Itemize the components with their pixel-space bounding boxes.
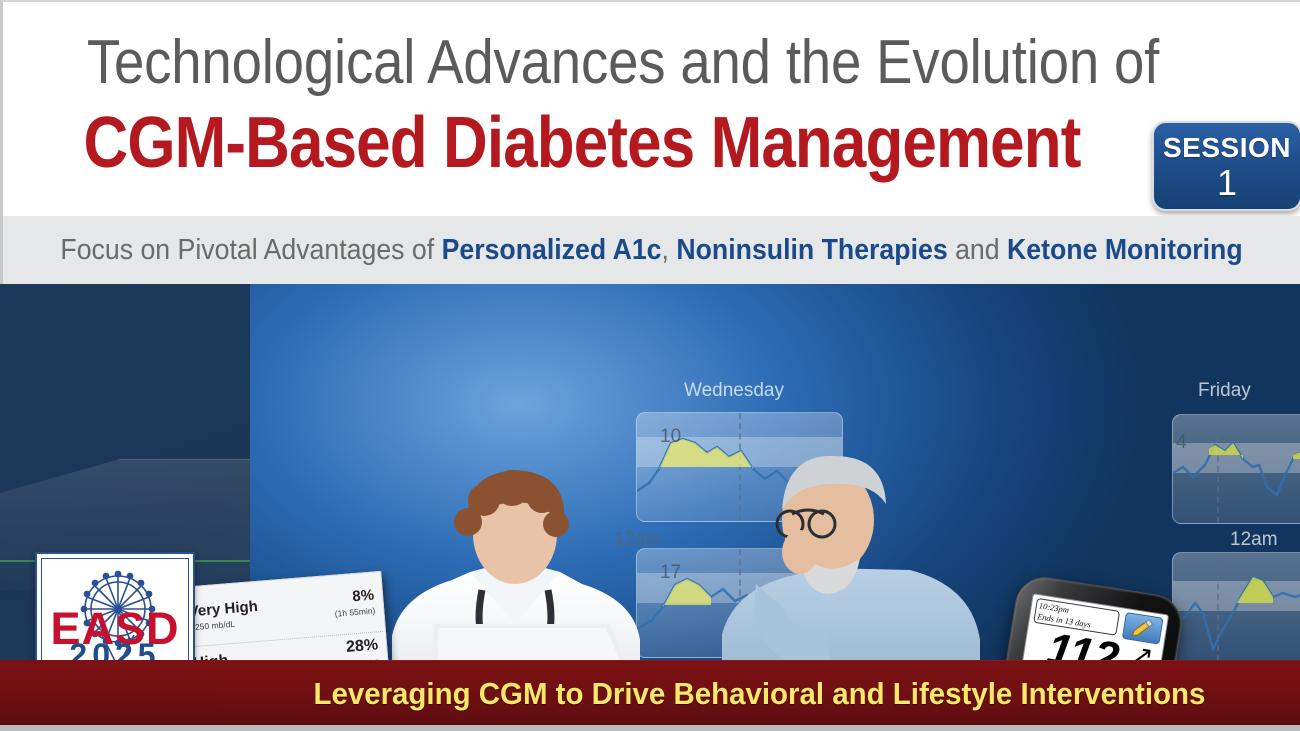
subtitle-prefix: Focus on Pivotal Advantages of bbox=[60, 234, 441, 266]
tir-row-percent: 28% bbox=[345, 636, 378, 657]
subtitle-sep-1: , bbox=[662, 234, 677, 266]
footer-text: Leveraging CGM to Drive Behavioral and L… bbox=[314, 676, 1206, 712]
title-band: Technological Advances and the Evolution… bbox=[0, 0, 1300, 216]
subtitle-highlight-a1c: Personalized A1c bbox=[442, 234, 662, 266]
session-badge-label: SESSION bbox=[1154, 132, 1300, 164]
subtitle-text: Focus on Pivotal Advantages of Personali… bbox=[60, 234, 1242, 267]
session-badge: SESSION 1 bbox=[1152, 121, 1300, 211]
subtitle-sep-2: and bbox=[948, 234, 1007, 266]
footer-bar-left bbox=[0, 660, 219, 725]
tir-row-name: Very High bbox=[188, 598, 258, 620]
subtitle-highlight-noninsulin: Noninsulin Therapies bbox=[676, 234, 947, 266]
session-badge-number: 1 bbox=[1154, 164, 1300, 202]
page-title-line2: CGM-Based Diabetes Management bbox=[84, 102, 1073, 184]
subtitle-highlight-ketone: Ketone Monitoring bbox=[1007, 234, 1243, 266]
poster-banner: Technological Advances and the Evolution… bbox=[0, 0, 1300, 731]
page-title-line1: Technological Advances and the Evolution… bbox=[77, 28, 1168, 98]
tir-row-time: (1h 55min) bbox=[334, 605, 375, 618]
footer-bottom-strip bbox=[0, 725, 1300, 731]
subtitle-band: Focus on Pivotal Advantages of Personali… bbox=[0, 216, 1300, 284]
tir-row-range: >250 mb/dL bbox=[190, 619, 236, 633]
footer-bar: Leveraging CGM to Drive Behavioral and L… bbox=[219, 660, 1300, 726]
tir-row-percent: 8% bbox=[352, 587, 375, 606]
